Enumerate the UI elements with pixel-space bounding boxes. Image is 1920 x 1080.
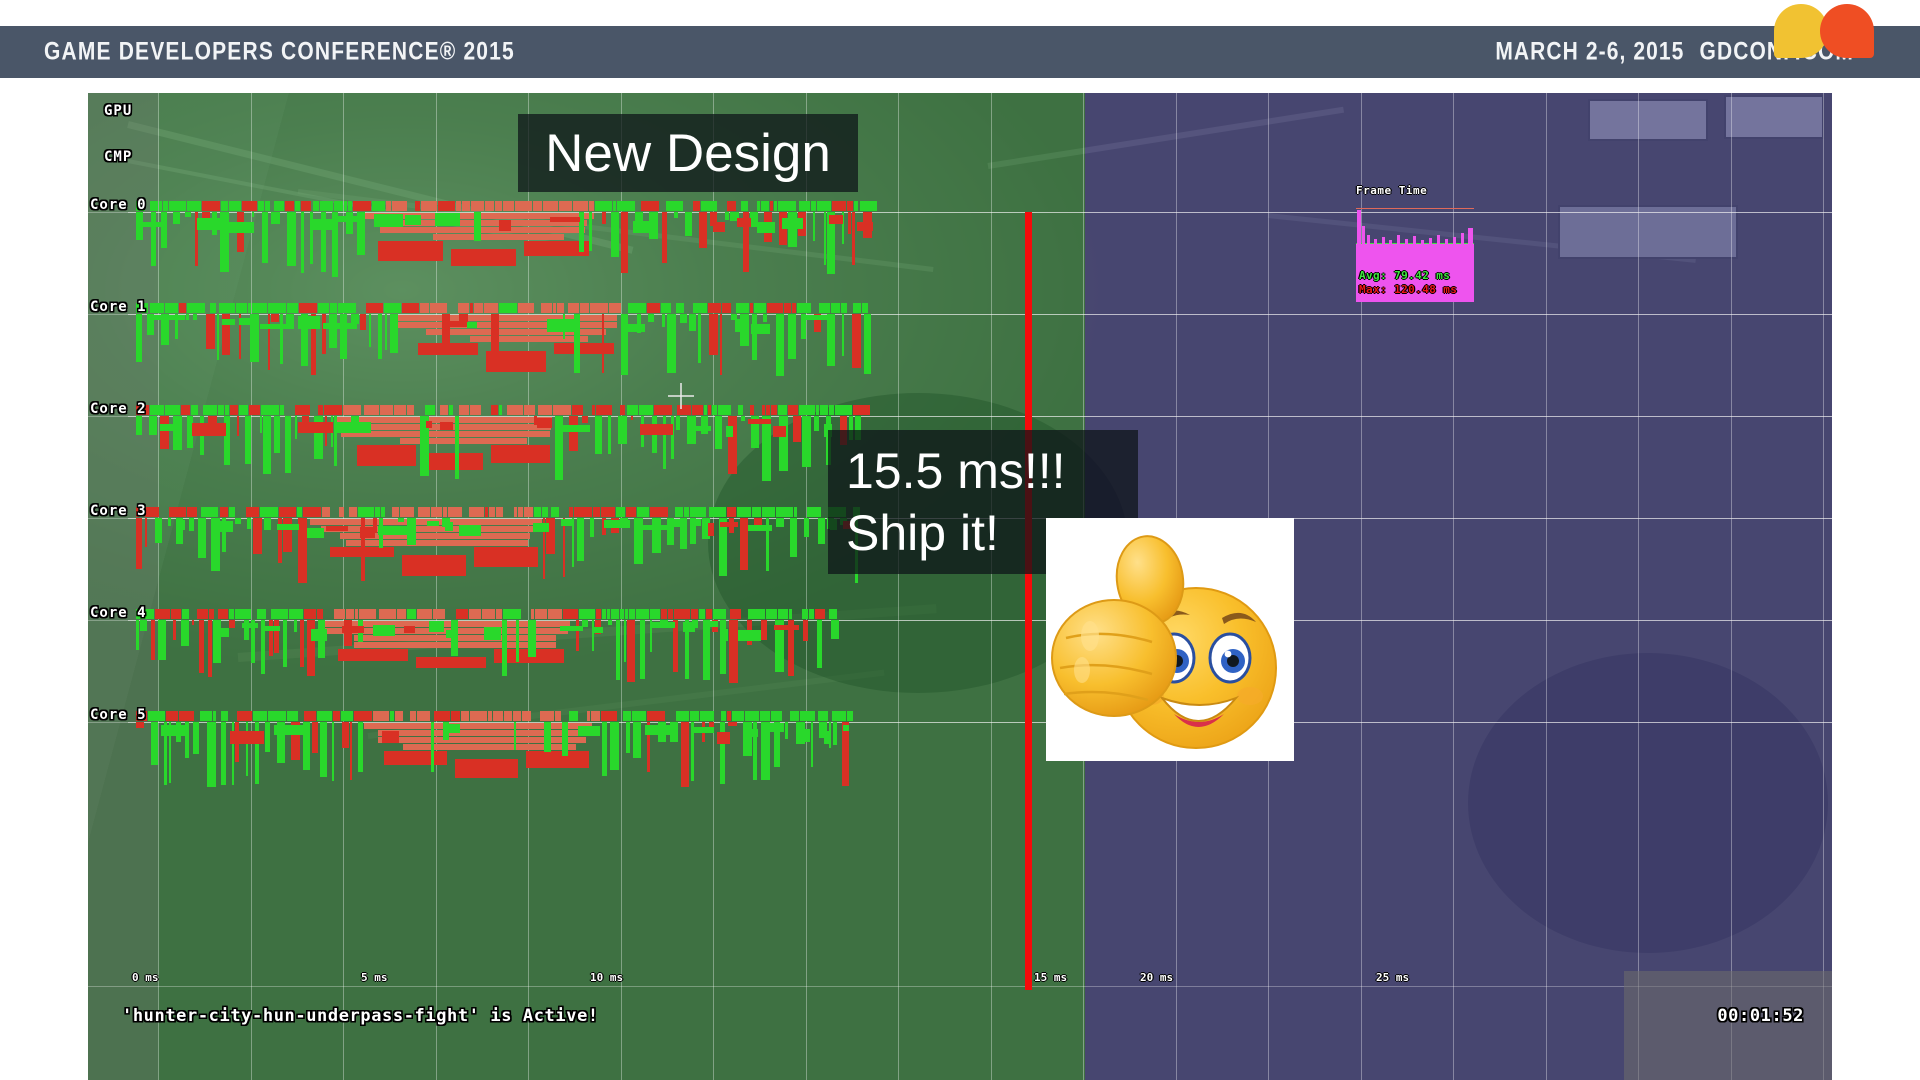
thumbs-up-smiley-icon — [1046, 518, 1294, 761]
caption-ship-line-1: 15.5 ms!!! — [846, 440, 1124, 502]
row-label-core-2: Core 2 — [90, 401, 147, 417]
tick-label-5ms: 5 ms — [361, 971, 388, 984]
gdc-header-bar: GAME DEVELOPERS CONFERENCE® 2015 MARCH 2… — [0, 26, 1920, 78]
tick-label-15ms: 15 ms — [1034, 971, 1067, 984]
playhead-marker[interactable] — [1025, 212, 1032, 990]
profiler-screenshot: GPU CMP Core 0 Core 1 Core 2 Core 3 Core… — [88, 93, 1832, 1080]
tick-label-10ms: 10 ms — [590, 971, 623, 984]
frame-time-title: Frame Time — [1356, 184, 1427, 197]
tick-label-0ms: 0 ms — [132, 971, 159, 984]
row-label-core-3: Core 3 — [90, 503, 147, 519]
label-gutter — [88, 93, 158, 1080]
logo-orange-shape — [1820, 4, 1874, 58]
tick-label-25ms: 25 ms — [1376, 971, 1409, 984]
conference-date: MARCH 2-6, 2015 — [1495, 38, 1684, 66]
row-label-core-1: Core 1 — [90, 299, 147, 315]
thumbs-up-emoji-card — [1046, 518, 1294, 761]
status-clock: 00:01:52 — [1717, 1006, 1804, 1026]
row-label-gpu: GPU — [104, 103, 132, 119]
gdc-logo — [1774, 4, 1894, 58]
frame-time-plot: Avg: 79.42 ms Max: 120.48 ms — [1356, 202, 1474, 302]
status-message: 'hunter-city-hun-underpass-fight' is Act… — [122, 1006, 599, 1026]
frame-time-max-line — [1356, 208, 1474, 209]
frame-time-max: Max: 120.48 ms — [1359, 283, 1457, 296]
frame-time-widget: Frame Time Avg — [1354, 184, 1476, 302]
row-label-cmp: CMP — [104, 149, 132, 165]
row-label-core-5: Core 5 — [90, 707, 147, 723]
caption-new-design-text: New Design — [545, 123, 831, 184]
caption-new-design: New Design — [518, 114, 858, 192]
frame-time-avg: Avg: 79.42 ms — [1359, 269, 1450, 282]
conference-title: GAME DEVELOPERS CONFERENCE® 2015 — [44, 38, 515, 67]
row-label-core-0: Core 0 — [90, 197, 147, 213]
crosshair-cursor — [668, 383, 694, 409]
tick-label-20ms: 20 ms — [1140, 971, 1173, 984]
gdc-slide: GAME DEVELOPERS CONFERENCE® 2015 MARCH 2… — [0, 0, 1920, 1080]
row-label-core-4: Core 4 — [90, 605, 147, 621]
